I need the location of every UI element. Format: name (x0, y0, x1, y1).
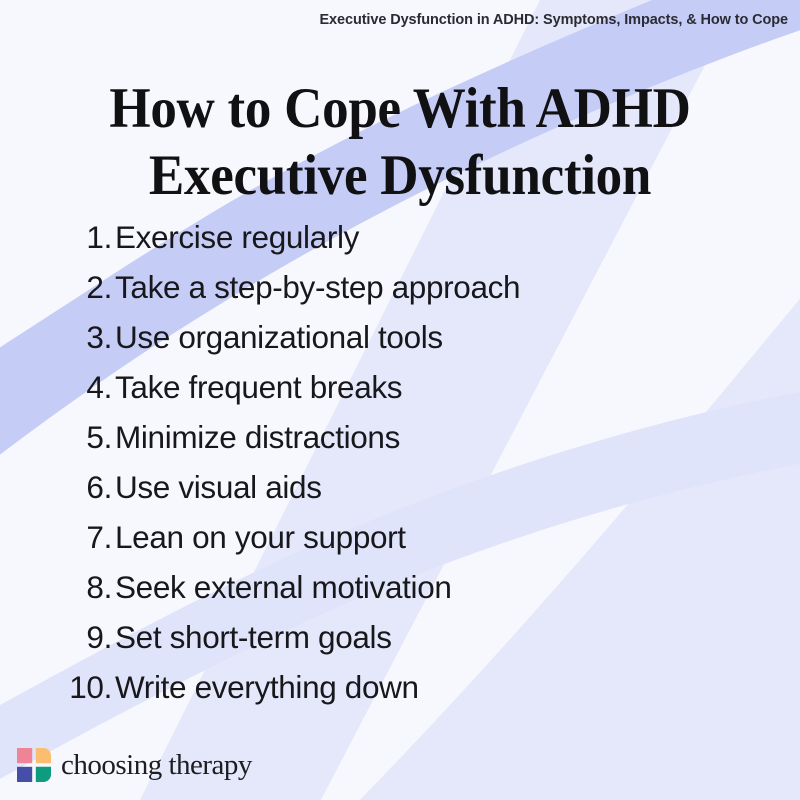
list-item-label: Seek external motivation (115, 569, 800, 606)
list-item-label: Set short-term goals (115, 619, 800, 656)
choosing-therapy-logo-icon (17, 748, 51, 782)
list-item-label: Lean on your support (115, 519, 800, 556)
infographic-canvas: Executive Dysfunction in ADHD: Symptoms,… (0, 0, 800, 800)
list-item: 3. Use organizational tools (0, 319, 800, 369)
list-item-label: Take a step-by-step approach (115, 269, 800, 306)
list-item-label: Write everything down (115, 669, 800, 706)
list-item-number: 4. (0, 369, 115, 406)
page-title-line-1: How to Cope With ADHD (65, 76, 735, 143)
list-item-number: 10. (0, 669, 115, 706)
list-item-label: Exercise regularly (115, 219, 800, 256)
list-item: 6. Use visual aids (0, 469, 800, 519)
list-item-number: 6. (0, 469, 115, 506)
logo-quadrant-bottom-right (36, 767, 51, 782)
list-item-number: 5. (0, 419, 115, 456)
list-item-label: Use visual aids (115, 469, 800, 506)
coping-strategies-list: 1. Exercise regularly 2. Take a step-by-… (0, 219, 800, 719)
list-item: 2. Take a step-by-step approach (0, 269, 800, 319)
list-item: 10. Write everything down (0, 669, 800, 719)
list-item: 7. Lean on your support (0, 519, 800, 569)
brand-logo: choosing therapy (17, 748, 252, 782)
list-item: 5. Minimize distractions (0, 419, 800, 469)
list-item-label: Use organizational tools (115, 319, 800, 356)
list-item-label: Minimize distractions (115, 419, 800, 456)
list-item: 9. Set short-term goals (0, 619, 800, 669)
brand-wordmark: choosing therapy (61, 751, 252, 780)
logo-quadrant-top-right (36, 748, 51, 763)
list-item: 4. Take frequent breaks (0, 369, 800, 419)
list-item-number: 7. (0, 519, 115, 556)
list-item: 1. Exercise regularly (0, 219, 800, 269)
list-item-label: Take frequent breaks (115, 369, 800, 406)
page-title-line-2: Executive Dysfunction (65, 143, 735, 210)
logo-quadrant-bottom-left (17, 767, 32, 782)
list-item-number: 9. (0, 619, 115, 656)
article-header-title: Executive Dysfunction in ADHD: Symptoms,… (200, 12, 788, 28)
list-item-number: 1. (0, 219, 115, 256)
logo-quadrant-top-left (17, 748, 32, 763)
list-item-number: 2. (0, 269, 115, 306)
list-item-number: 8. (0, 569, 115, 606)
list-item: 8. Seek external motivation (0, 569, 800, 619)
list-item-number: 3. (0, 319, 115, 356)
page-title: How to Cope With ADHD Executive Dysfunct… (65, 76, 735, 209)
